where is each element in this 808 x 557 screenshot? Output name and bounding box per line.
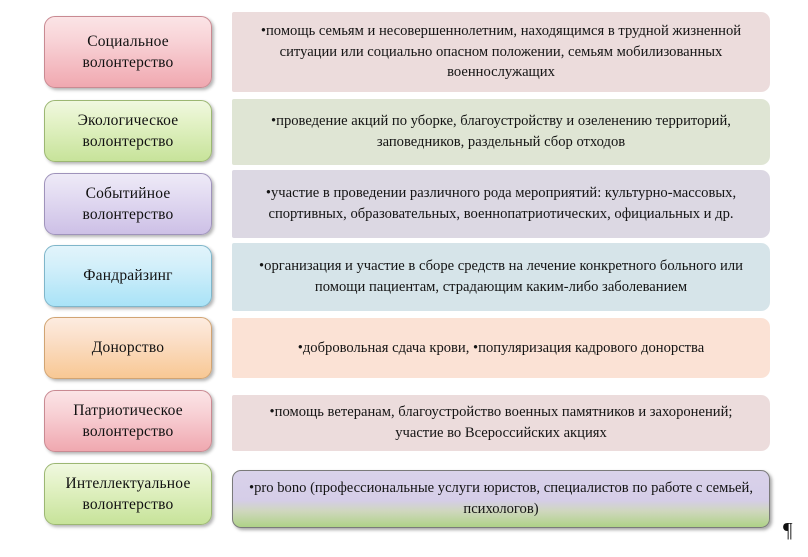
category-label-text: Фандрайзинг — [77, 265, 179, 286]
category-description-ecological[interactable]: •проведение акций по уборке, благоустрой… — [232, 99, 770, 165]
category-label-text: Интеллектуальное волонтерство — [45, 473, 211, 516]
category-description-patriotic[interactable]: •помощь ветеранам, благоустройство военн… — [232, 395, 770, 451]
category-description-fundraising[interactable]: •организация и участие в сборе средств н… — [232, 243, 770, 311]
category-label-text: Социальное волонтерство — [45, 31, 211, 74]
category-description-text: •организация и участие в сборе средств н… — [232, 256, 770, 297]
category-label-event[interactable]: Событийное волонтерство — [44, 173, 212, 235]
category-label-text: Событийное волонтерство — [45, 183, 211, 226]
category-label-text: Экологическое волонтерство — [45, 110, 211, 153]
paragraph-mark-icon: ¶ — [783, 520, 793, 541]
category-label-donorship[interactable]: Донорство — [44, 317, 212, 379]
category-label-ecological[interactable]: Экологическое волонтерство — [44, 100, 212, 162]
category-label-patriotic[interactable]: Патриотическое волонтерство — [44, 390, 212, 452]
category-description-intellectual[interactable]: •pro bono (профессиональные услуги юрист… — [232, 470, 770, 528]
category-description-text: •pro bono (профессиональные услуги юрист… — [233, 478, 769, 519]
category-description-text: •участие в проведении различного рода ме… — [232, 183, 770, 224]
category-label-text: Донорство — [86, 337, 171, 358]
diagram-sheet: Социальное волонтерство •помощь семьям и… — [0, 0, 808, 557]
category-description-donorship[interactable]: •добровольная сдача крови, •популяризаци… — [232, 318, 770, 378]
category-label-social[interactable]: Социальное волонтерство — [44, 16, 212, 88]
category-description-text: •проведение акций по уборке, благоустрой… — [232, 111, 770, 152]
category-description-text: •помощь ветеранам, благоустройство военн… — [232, 402, 770, 443]
category-description-text: •помощь семьям и несовершеннолетним, нах… — [232, 21, 770, 83]
category-label-text: Патриотическое волонтерство — [45, 400, 211, 443]
category-label-intellectual[interactable]: Интеллектуальное волонтерство — [44, 463, 212, 525]
category-description-social[interactable]: •помощь семьям и несовершеннолетним, нах… — [232, 12, 770, 92]
category-label-fundraising[interactable]: Фандрайзинг — [44, 245, 212, 307]
category-description-event[interactable]: •участие в проведении различного рода ме… — [232, 170, 770, 238]
category-description-text: •добровольная сдача крови, •популяризаци… — [282, 338, 720, 359]
